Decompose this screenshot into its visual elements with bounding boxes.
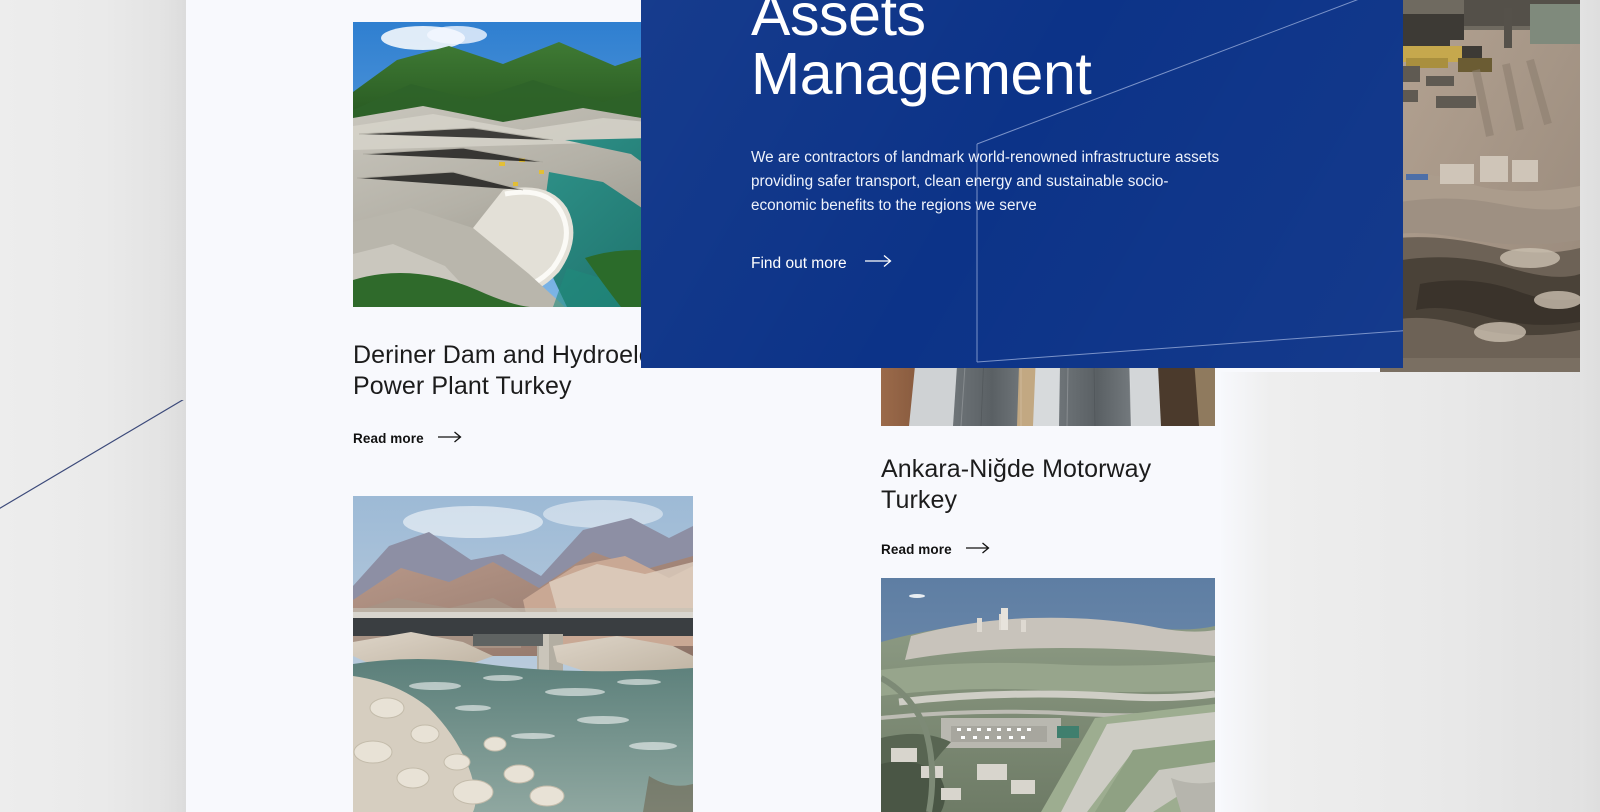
- airport-photo-illustration: [881, 578, 1215, 812]
- left-background-panel: [0, 0, 186, 812]
- read-more-link-deriner[interactable]: Read more: [353, 431, 464, 446]
- project-card-airport[interactable]: [881, 578, 1215, 812]
- project-image-airport: [881, 578, 1215, 812]
- lower-right-grey-block: [1221, 372, 1580, 812]
- project-title-motorway: Ankara-Niğde Motorway Turkey: [881, 454, 1215, 516]
- arrow-right-icon: [966, 542, 992, 557]
- bridge-photo-illustration: [353, 496, 693, 812]
- project-image-bridge: [353, 496, 693, 812]
- read-more-link-motorway[interactable]: Read more: [881, 542, 992, 557]
- arrow-right-icon: [865, 254, 895, 273]
- read-more-label: Read more: [881, 542, 952, 557]
- hero-description: We are contractors of landmark world-ren…: [751, 146, 1231, 218]
- project-card-bridge[interactable]: [353, 496, 693, 812]
- find-out-more-label: Find out more: [751, 255, 847, 273]
- arrow-right-icon: [438, 431, 464, 446]
- page-canvas: Deriner Dam and Hydroelectric Power Plan…: [0, 0, 1600, 812]
- hero-heading: Assets Management: [751, 0, 1403, 104]
- hero-content: Assets Management We are contractors of …: [641, 0, 1403, 273]
- read-more-label: Read more: [353, 431, 424, 446]
- assets-management-hero-panel: Assets Management We are contractors of …: [641, 0, 1403, 368]
- aerial-construction-image: [1380, 0, 1580, 372]
- find-out-more-link[interactable]: Find out more: [751, 254, 895, 273]
- right-background-panel: [1580, 0, 1600, 812]
- hero-heading-line-2: Management: [751, 45, 1403, 104]
